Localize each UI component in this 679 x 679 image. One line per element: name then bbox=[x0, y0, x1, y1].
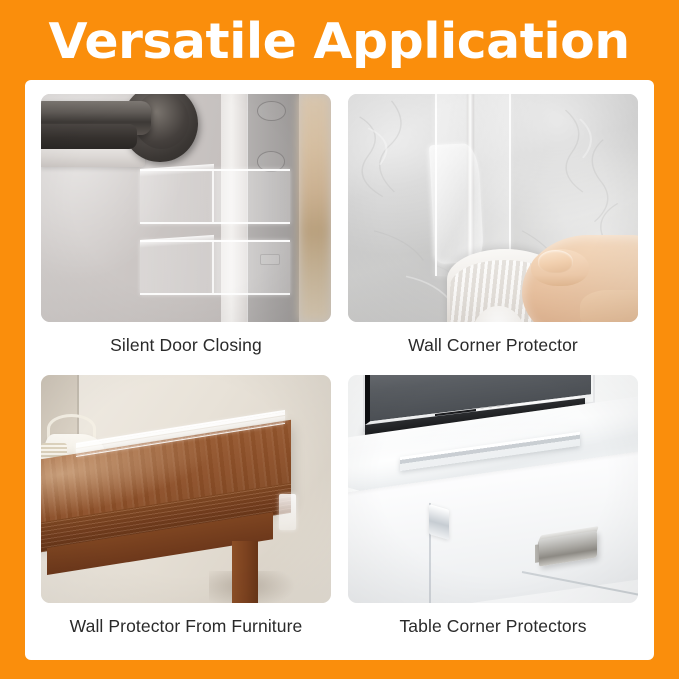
thumbnail bbox=[538, 250, 573, 273]
photo-table-corner-protectors bbox=[348, 375, 638, 603]
tape-edge-right bbox=[509, 94, 511, 272]
blurred-background bbox=[299, 94, 331, 322]
product-infographic-poster: Versatile Application bbox=[0, 0, 679, 679]
protector-bend-line bbox=[212, 171, 214, 222]
corner-protector-strip-lower bbox=[140, 240, 291, 295]
door-handle-lever-shadow bbox=[41, 124, 137, 149]
feature-tile-silent-door-closing[interactable]: Silent Door Closing bbox=[41, 94, 331, 369]
finger bbox=[580, 290, 638, 322]
edge-protector-corner-cap bbox=[429, 504, 449, 539]
caption-wall-corner-protector: Wall Corner Protector bbox=[348, 322, 638, 369]
poster-header: Versatile Application bbox=[0, 0, 679, 80]
desk-leg bbox=[232, 541, 258, 603]
feature-tile-wall-corner-protector[interactable]: Wall Corner Protector bbox=[348, 94, 638, 369]
page-title: Versatile Application bbox=[49, 14, 630, 66]
caption-table-corner-protectors: Table Corner Protectors bbox=[348, 603, 638, 650]
tape-peel-flap bbox=[429, 143, 484, 264]
feature-grid: Silent Door Closing bbox=[25, 80, 654, 660]
photo-wall-protector-from-furniture bbox=[41, 375, 331, 603]
corner-protector-strip-upper bbox=[140, 169, 291, 224]
photo-wall-corner-protector bbox=[348, 94, 638, 322]
feature-tile-wall-protector-from-furniture[interactable]: Wall Protector From Furniture bbox=[41, 375, 331, 650]
edge-protector-corner-cap bbox=[279, 494, 296, 530]
feature-tile-table-corner-protectors[interactable]: Table Corner Protectors bbox=[348, 375, 638, 650]
caption-wall-protector-from-furniture: Wall Protector From Furniture bbox=[41, 603, 331, 650]
content-card: Silent Door Closing bbox=[25, 80, 654, 660]
protector-bend-line bbox=[212, 242, 214, 293]
caption-silent-door-closing: Silent Door Closing bbox=[41, 322, 331, 369]
photo-silent-door-closing bbox=[41, 94, 331, 322]
